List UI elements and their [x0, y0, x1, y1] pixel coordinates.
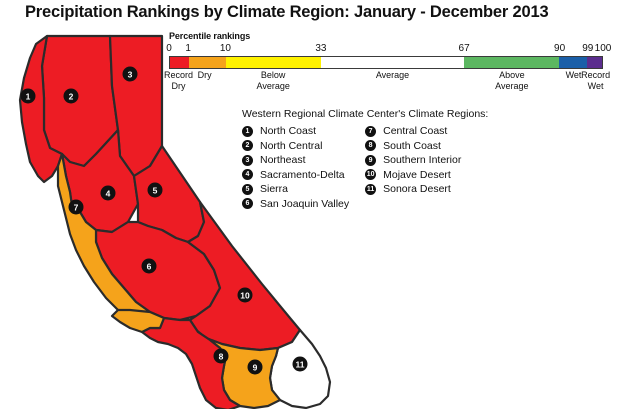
region-legend-label-3: Northeast [260, 154, 306, 166]
scale-tick-100: 100 [595, 43, 612, 54]
svg-text:10: 10 [240, 291, 250, 301]
region-bullet-6: 6 [242, 198, 253, 209]
scale-label-above-average: Above Average [495, 70, 528, 92]
map-region-marker-4[interactable]: 4 [101, 186, 116, 201]
scale-band-record-wet[interactable] [587, 57, 602, 68]
region-bullet-5: 5 [242, 184, 253, 195]
svg-text:9: 9 [253, 363, 258, 373]
region-legend-label-2: North Central [260, 140, 322, 152]
region-legend-item-11[interactable]: 11Sonora Desert [365, 183, 461, 195]
svg-text:5: 5 [153, 186, 158, 196]
region-legend-label-7: Central Coast [383, 125, 447, 137]
region-legend-item-7[interactable]: 7Central Coast [365, 125, 461, 137]
scale-tick-1: 1 [185, 43, 191, 54]
region-bullet-9: 9 [365, 155, 376, 166]
map-region-marker-1[interactable]: 1 [21, 89, 36, 104]
region-legend-item-10[interactable]: 10Mojave Desert [365, 169, 461, 181]
region-legend-label-11: Sonora Desert [383, 183, 451, 195]
map-region-marker-3[interactable]: 3 [123, 67, 138, 82]
map-region-marker-6[interactable]: 6 [142, 259, 157, 274]
map-region-marker-8[interactable]: 8 [214, 349, 229, 364]
region-legend-label-5: Sierra [260, 183, 288, 195]
regions-legend-columns: 1North Coast2North Central3Northeast4Sac… [242, 125, 542, 210]
scale-band-record-dry[interactable] [170, 57, 189, 68]
map-region-marker-9[interactable]: 9 [248, 360, 263, 375]
region-legend-label-10: Mojave Desert [383, 169, 451, 181]
map-region-marker-2[interactable]: 2 [64, 89, 79, 104]
scale-band-above-average[interactable] [464, 57, 559, 68]
page-title: Precipitation Rankings by Climate Region… [25, 3, 548, 22]
scale-label-row: Record DryDryBelow AverageAverageAbove A… [169, 70, 603, 96]
region-bullet-8: 8 [365, 140, 376, 151]
region-legend-label-4: Sacramento-Delta [260, 169, 345, 181]
region-legend-item-4[interactable]: 4Sacramento-Delta [242, 169, 349, 181]
region-bullet-11: 11 [365, 184, 376, 195]
region-bullet-2: 2 [242, 140, 253, 151]
regions-legend-column-left: 1North Coast2North Central3Northeast4Sac… [242, 125, 349, 210]
region-legend-item-9[interactable]: 9Southern Interior [365, 154, 461, 166]
scale-tick-0: 0 [166, 43, 172, 54]
scale-label-average: Average [376, 70, 409, 81]
scale-tick-row: 011033679099100 [169, 43, 603, 56]
region-legend-item-2[interactable]: 2North Central [242, 140, 349, 152]
svg-text:3: 3 [128, 70, 133, 80]
scale-label-dry: Dry [198, 70, 212, 81]
percentile-scale-legend: Percentile rankings 011033679099100 Reco… [169, 31, 603, 96]
scale-legend-title: Percentile rankings [169, 31, 603, 41]
region-bullet-7: 7 [365, 126, 376, 137]
region-bullet-4: 4 [242, 169, 253, 180]
scale-label-wet: Wet [566, 70, 582, 81]
svg-text:8: 8 [219, 352, 224, 362]
scale-label-below-average: Below Average [256, 70, 289, 92]
scale-color-bar [169, 56, 603, 69]
region-bullet-3: 3 [242, 155, 253, 166]
scale-tick-90: 90 [554, 43, 565, 54]
svg-text:2: 2 [69, 92, 74, 102]
region-legend-item-1[interactable]: 1North Coast [242, 125, 349, 137]
scale-tick-10: 10 [220, 43, 231, 54]
region-legend-item-8[interactable]: 8South Coast [365, 140, 461, 152]
scale-label-record-dry: Record Dry [164, 70, 193, 92]
region-legend-label-8: South Coast [383, 140, 441, 152]
region-legend-label-1: North Coast [260, 125, 316, 137]
map-region-marker-5[interactable]: 5 [148, 183, 163, 198]
region-legend-item-6[interactable]: 6San Joaquin Valley [242, 198, 349, 210]
map-region-marker-10[interactable]: 10 [238, 288, 253, 303]
scale-band-wet[interactable] [559, 57, 587, 68]
svg-text:4: 4 [106, 189, 111, 199]
climate-regions-legend: Western Regional Climate Center's Climat… [242, 108, 542, 210]
svg-text:11: 11 [296, 360, 305, 370]
map-region-marker-7[interactable]: 7 [69, 200, 84, 215]
regions-legend-column-right: 7Central Coast8South Coast9Southern Inte… [365, 125, 461, 210]
region-bullet-1: 1 [242, 126, 253, 137]
scale-tick-99: 99 [582, 43, 593, 54]
scale-band-dry[interactable] [189, 57, 226, 68]
scale-tick-67: 67 [459, 43, 470, 54]
svg-text:7: 7 [74, 203, 79, 213]
scale-band-average[interactable] [321, 57, 464, 68]
scale-label-record-wet: Record Wet [581, 70, 610, 92]
svg-text:1: 1 [26, 92, 31, 102]
map-region-marker-11[interactable]: 11 [293, 357, 308, 372]
region-legend-item-5[interactable]: 5Sierra [242, 183, 349, 195]
region-bullet-10: 10 [365, 169, 376, 180]
regions-legend-heading: Western Regional Climate Center's Climat… [242, 108, 542, 120]
region-legend-label-6: San Joaquin Valley [260, 198, 349, 210]
scale-band-below-average[interactable] [226, 57, 321, 68]
region-legend-label-9: Southern Interior [383, 154, 461, 166]
region-legend-item-3[interactable]: 3Northeast [242, 154, 349, 166]
scale-tick-33: 33 [315, 43, 326, 54]
svg-text:6: 6 [147, 262, 152, 272]
